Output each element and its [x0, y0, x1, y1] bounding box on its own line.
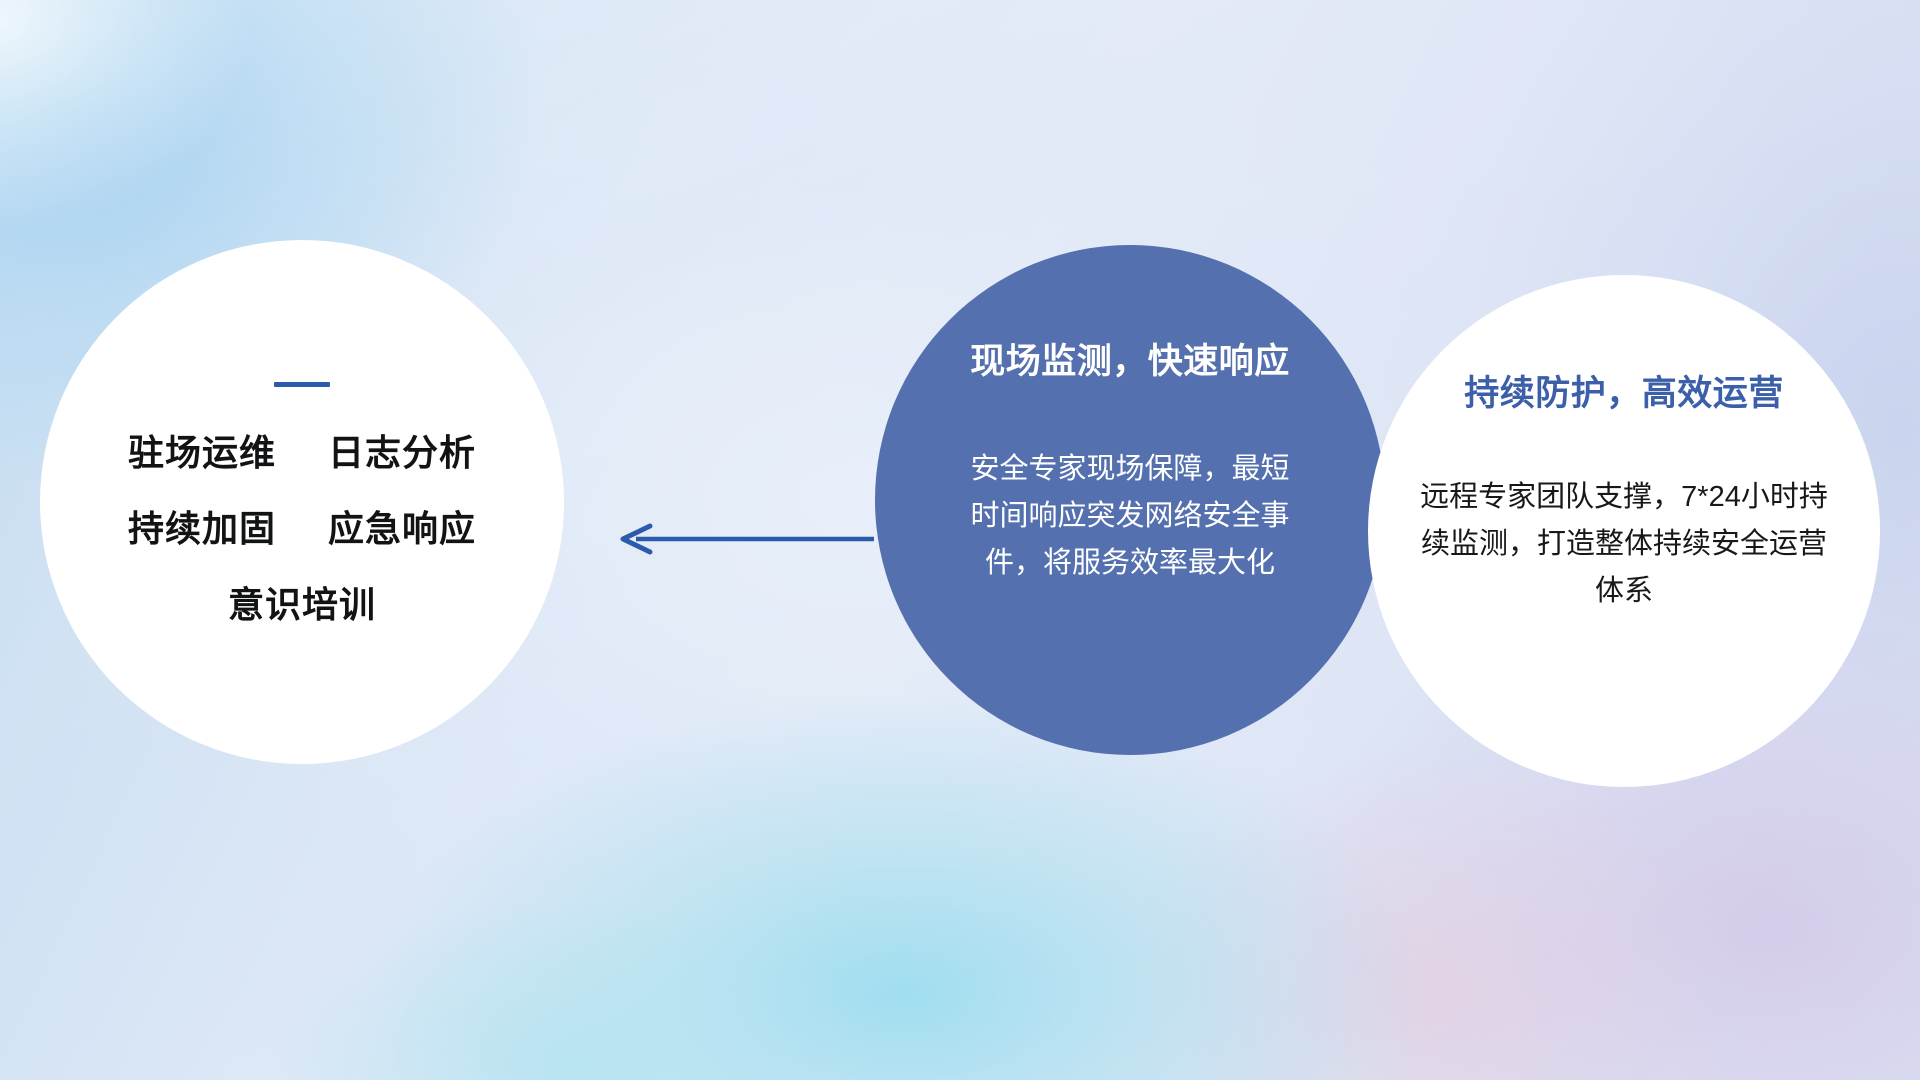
capability-item-2: 日志分析: [328, 432, 476, 473]
capability-item-4: 应急响应: [328, 508, 476, 549]
capability-item-5: 意识培训: [228, 584, 376, 625]
capability-list: 驻场运维 日志分析 持续加固 应急响应 意识培训: [128, 435, 476, 623]
capability-row-1: 驻场运维 日志分析: [128, 435, 476, 471]
flow-arrow-left-icon: [610, 522, 875, 556]
feature-body-remote: 远程专家团队支撑，7*24小时持续监测，打造整体持续安全运营体系: [1419, 474, 1829, 615]
feature-circle-onsite[interactable]: 现场监测，快速响应 安全专家现场保障，最短时间响应突发网络安全事件，将服务效率最…: [875, 245, 1385, 755]
capability-circle-left[interactable]: 驻场运维 日志分析 持续加固 应急响应 意识培训: [40, 240, 564, 764]
capability-item-3: 持续加固: [128, 508, 276, 549]
feature-title-onsite: 现场监测，快速响应: [970, 333, 1290, 384]
capability-item-1: 驻场运维: [128, 432, 276, 473]
capability-row-2: 持续加固 应急响应: [128, 511, 476, 547]
feature-circle-remote[interactable]: 持续防护，高效运营 远程专家团队支撑，7*24小时持续监测，打造整体持续安全运营…: [1368, 275, 1880, 787]
feature-body-onsite: 安全专家现场保障，最短时间响应突发网络安全事件，将服务效率最大化: [965, 446, 1295, 587]
feature-title-remote: 持续防护，高效运营: [1464, 365, 1784, 416]
capability-row-3: 意识培训: [128, 587, 476, 623]
flow-arrow-svg: [610, 522, 875, 556]
divider-dash-icon: [274, 382, 330, 387]
